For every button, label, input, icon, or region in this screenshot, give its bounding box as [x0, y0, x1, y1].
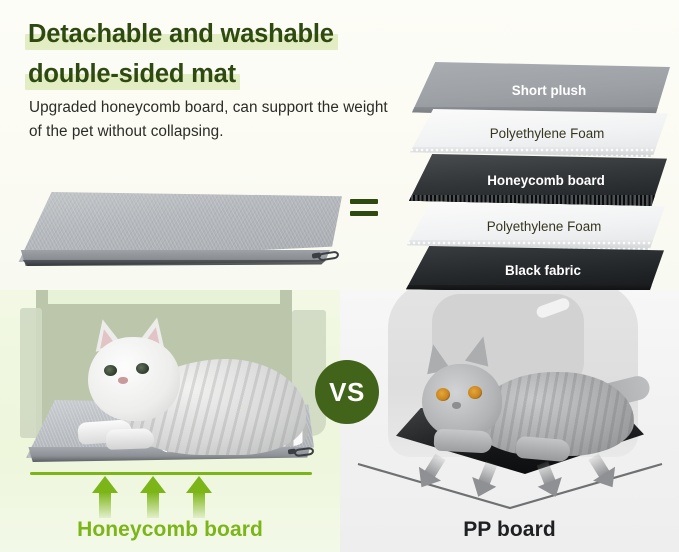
white-cat-image: [40, 315, 310, 455]
top-section: Detachable and washable double-sided mat…: [0, 0, 679, 290]
layer-label: Short plush: [512, 83, 586, 98]
infographic-root: Detachable and washable double-sided mat…: [0, 0, 679, 552]
comparison-panel-pp: PP board: [340, 290, 679, 552]
layer-label: Polyethylene Foam: [487, 219, 602, 234]
layer-label: Black fabric: [505, 263, 581, 278]
arrow-head: [186, 476, 212, 493]
cat-paw-rear: [106, 428, 155, 450]
equals-bar-bottom: [350, 211, 378, 216]
arrow-head: [92, 476, 118, 493]
arrow-head: [140, 476, 166, 493]
cat-condo-left-post: [20, 308, 42, 438]
arrow-shaft: [147, 492, 159, 518]
cat-nose: [452, 402, 461, 409]
arrow-shaft: [99, 492, 111, 518]
zipper-pull-icon: [312, 250, 342, 266]
flat-support-line: [30, 472, 312, 475]
layer-label: Polyethylene Foam: [490, 126, 605, 141]
cat-condo-top-opening: [48, 290, 280, 304]
cat-head: [422, 364, 502, 438]
cat-eye-left: [104, 365, 117, 376]
vs-badge-label: VS: [329, 377, 365, 408]
headline: Detachable and washable double-sided mat: [28, 14, 408, 94]
headline-line-2: double-sided mat: [28, 54, 236, 94]
gray-cat-image: [398, 330, 648, 460]
cat-nose: [118, 377, 128, 384]
layer-black-fabric: Black fabric: [406, 246, 664, 290]
zipper-loop: [318, 250, 340, 261]
caption-pp-board: PP board: [340, 518, 679, 542]
vs-badge: VS: [315, 360, 379, 424]
cat-eye-right: [468, 386, 482, 399]
comparison-section: Honeycomb board: [0, 290, 679, 552]
green-up-arrow-icon: [140, 476, 166, 518]
equals-bar-top: [350, 199, 378, 204]
arrow-shaft: [193, 492, 205, 518]
equals-sign-icon: [350, 199, 378, 221]
mat-bottom-hem: [18, 260, 334, 266]
layer-polyethylene-foam-bottom: Polyethylene Foam: [407, 202, 665, 250]
sagging-support-line: [340, 450, 679, 520]
cat-head: [88, 337, 180, 421]
layer-polyethylene-foam-top: Polyethylene Foam: [410, 109, 668, 157]
layer-label: Honeycomb board: [487, 173, 605, 188]
comparison-panel-honeycomb: Honeycomb board: [0, 290, 340, 552]
caption-honeycomb-board: Honeycomb board: [0, 518, 340, 542]
subcopy-text: Upgraded honeycomb board, can support th…: [29, 96, 389, 144]
headline-line-1: Detachable and washable: [28, 14, 334, 54]
headline-text-2: double-sided mat: [28, 60, 236, 88]
cat-eye-left: [436, 388, 450, 401]
cat-ear-right: [465, 334, 495, 367]
headline-text-1: Detachable and washable: [28, 20, 334, 48]
product-mat-image: [12, 192, 342, 277]
green-up-arrow-icon: [186, 476, 212, 518]
cat-eye-right: [136, 363, 149, 374]
layer-honeycomb-board: Honeycomb board: [409, 154, 667, 206]
layer-stack-diagram: Short plush Polyethylene Foam Honeycomb …: [404, 62, 672, 274]
green-up-arrow-icon: [92, 476, 118, 518]
